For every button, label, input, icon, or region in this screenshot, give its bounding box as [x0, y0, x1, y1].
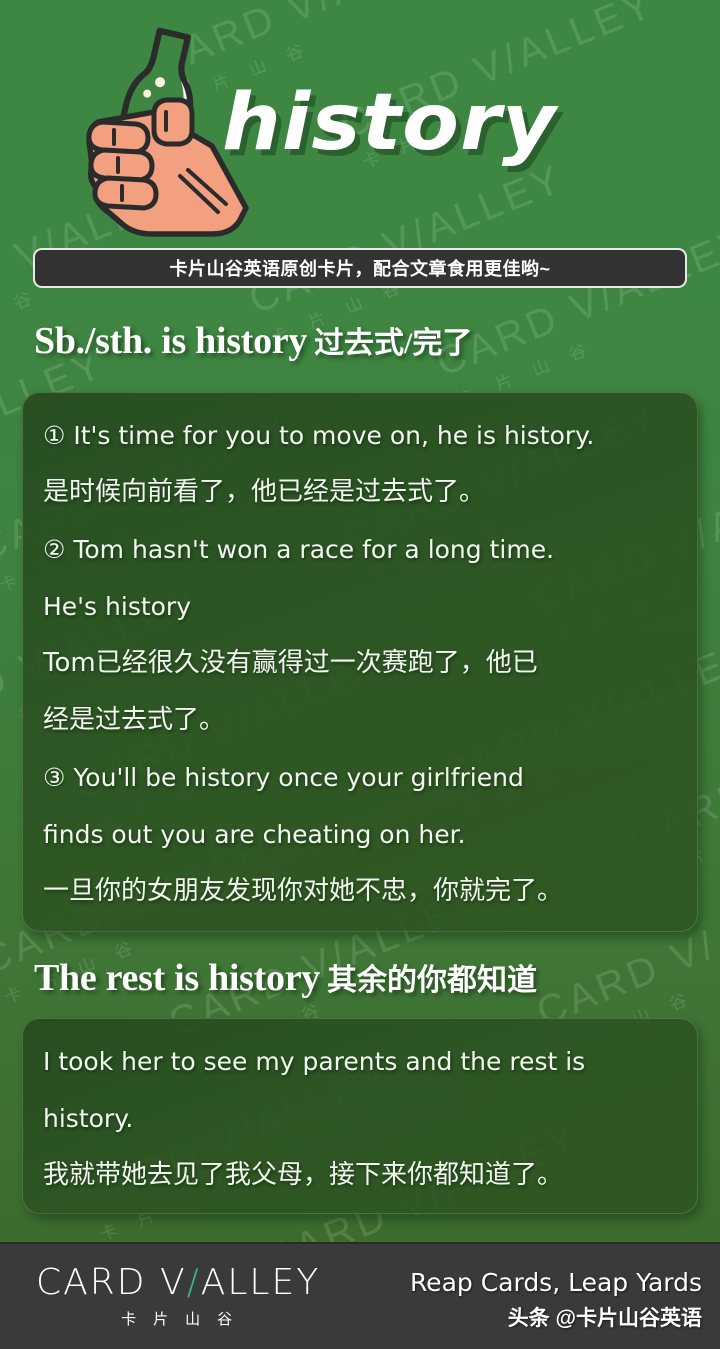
content-line: ① It's time for you to move on, he is hi… — [43, 407, 677, 464]
watermark-en: CARD V/ALLEY — [702, 892, 720, 1136]
section-2-heading: The rest is history其余的你都知道 — [34, 955, 537, 1000]
section-2-content-box: I took her to see my parents and the res… — [22, 1018, 698, 1214]
footer-handle: 头条 @卡片山谷英语 — [508, 1302, 702, 1332]
watermark-cn: 卡 片 山 谷 — [458, 274, 720, 405]
brand-logo-slash: / — [187, 1262, 201, 1303]
section-1-heading-cn: 过去式/完了 — [314, 327, 472, 360]
section-1-heading-en: Sb./sth. is history — [34, 320, 307, 362]
content-line: ② Tom hasn't won a race for a long time. — [43, 521, 677, 578]
watermark-unit: CARD V/ALLEY 卡 片 山 谷 — [702, 863, 720, 1120]
brand-logo-cn: 卡片山谷 — [36, 1308, 320, 1329]
content-line: I took her to see my parents and the res… — [43, 1033, 677, 1090]
header: history — [0, 0, 720, 240]
promo-banner: 卡片山谷英语原创卡片，配合文章食用更佳哟~ — [33, 248, 687, 288]
brand-logo-en: CARD V/ALLEY — [36, 1262, 320, 1303]
content-line: He's history — [43, 578, 677, 635]
section-1-heading: Sb./sth. is history过去式/完了 — [34, 318, 472, 363]
content-line: 我就带她去见了我父母，接下来你都知道了。 — [43, 1147, 677, 1204]
brand-logo: CARD V/ALLEY 卡片山谷 — [36, 1262, 320, 1329]
page-title: history — [222, 78, 557, 168]
brand-logo-part1: CARD V — [36, 1262, 187, 1303]
brand-logo-part2: ALLEY — [201, 1262, 320, 1303]
content-line: ③ You'll be history once your girlfriend — [43, 749, 677, 806]
content-line: 经是过去式了。 — [43, 692, 677, 749]
content-line: finds out you are cheating on her. — [43, 806, 677, 863]
footer-tagline: Reap Cards, Leap Yards — [410, 1268, 702, 1297]
content-line: Tom已经很久没有赢得过一次赛跑了，他已 — [43, 635, 677, 692]
section-2-heading-cn: 其余的你都知道 — [327, 964, 537, 997]
promo-banner-text: 卡片山谷英语原创卡片，配合文章食用更佳哟~ — [169, 255, 550, 281]
section-1-content-box: ① It's time for you to move on, he is hi… — [22, 392, 698, 932]
content-line: history. — [43, 1090, 677, 1147]
section-2-heading-en: The rest is history — [34, 957, 320, 999]
content-line: 是时候向前看了，他已经是过去式了。 — [43, 464, 677, 521]
footer: CARD V/ALLEY 卡片山谷 Reap Cards, Leap Yards… — [0, 1242, 720, 1349]
content-line: 一旦你的女朋友发现你对她不忠，你就完了。 — [43, 863, 677, 920]
card-root: CARD V/ALLEY 卡 片 山 谷 CARD V/ALLEY 卡 片 山 … — [0, 0, 720, 1349]
